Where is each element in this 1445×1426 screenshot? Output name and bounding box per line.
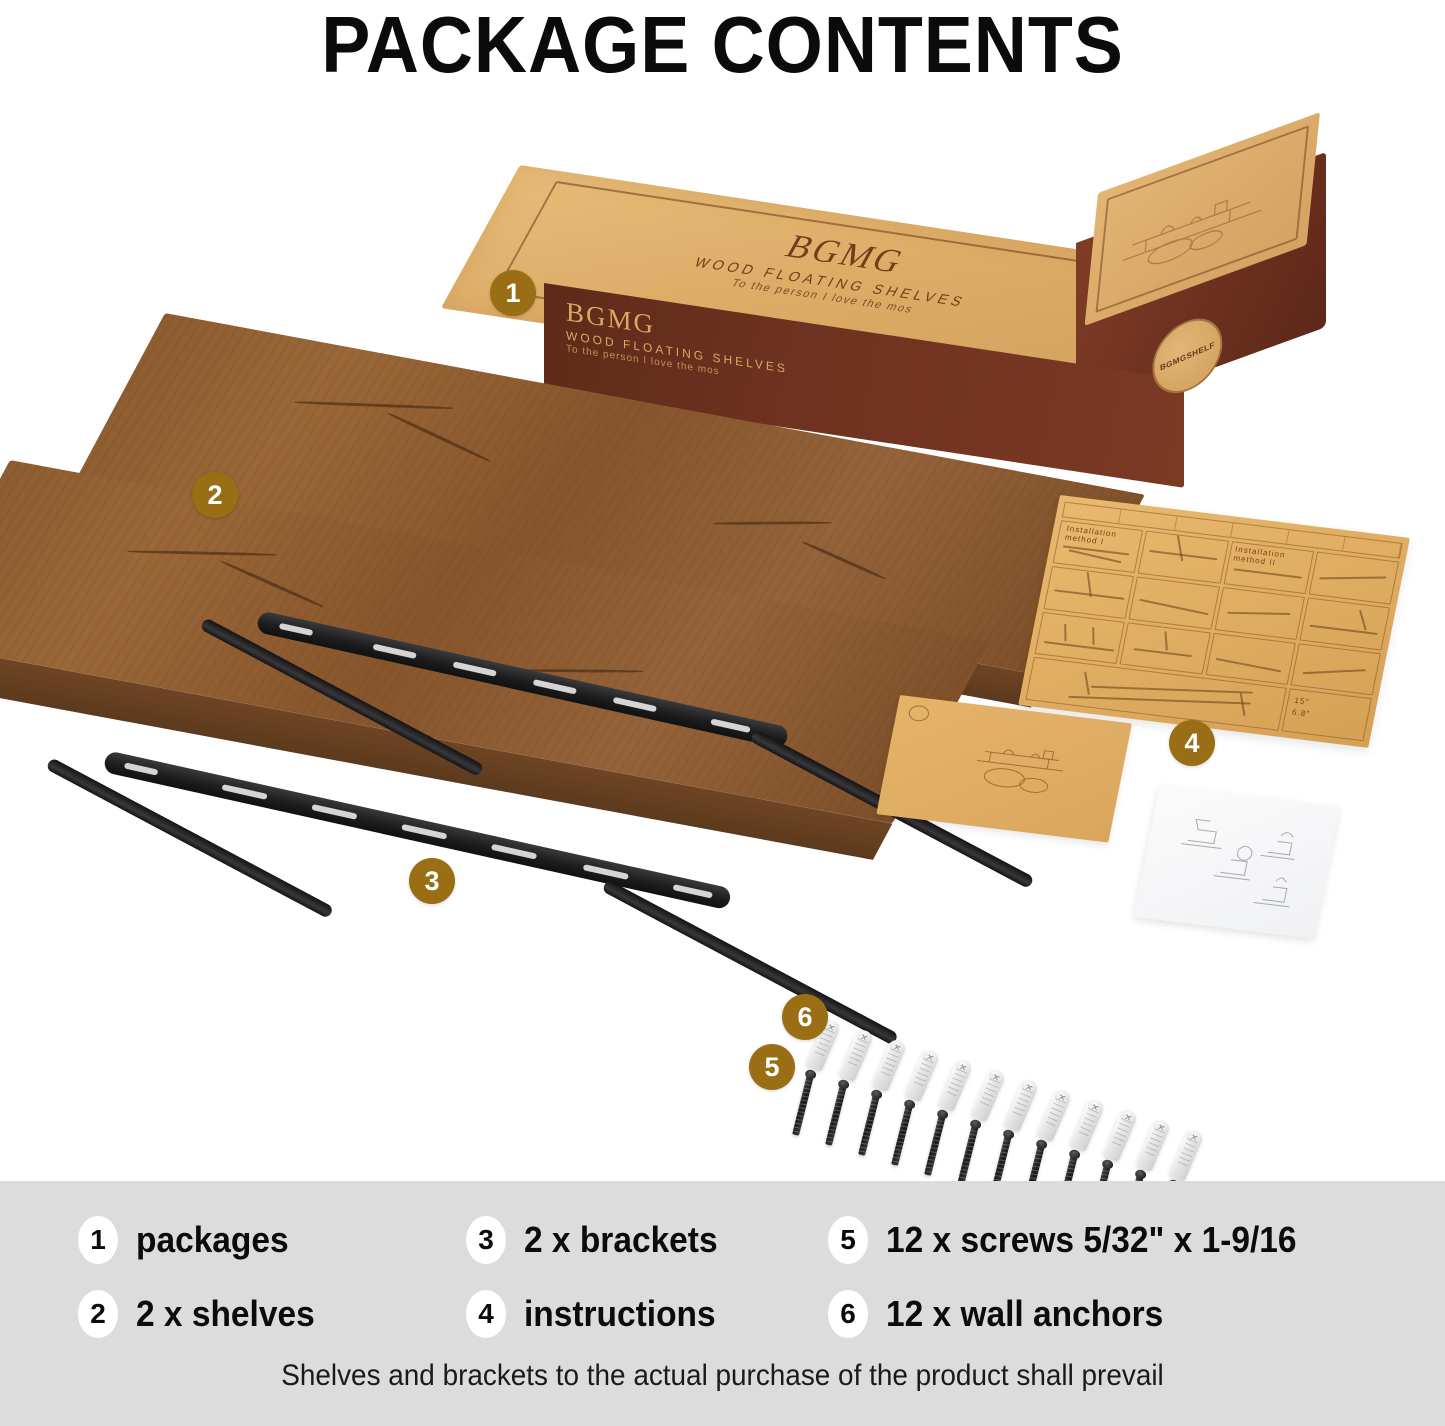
anchor-head: [1020, 1078, 1039, 1096]
wall-anchor: ✕: [1070, 1098, 1106, 1153]
anchor-cross-slot-icon: ✕: [1189, 1133, 1198, 1142]
legend-badge-5: 5: [828, 1216, 868, 1264]
screw: [924, 1110, 947, 1176]
legend-badge-4: 4: [466, 1290, 506, 1338]
instructions-cell: [1290, 643, 1381, 696]
product-photo-stage: BGMG WOOD FLOATING SHELVES To the person…: [0, 95, 1445, 1181]
instructions-cell: Installation method I: [1053, 520, 1144, 573]
bracket-slot: [673, 884, 713, 899]
legend-label-6: 12 x wall anchors: [886, 1293, 1163, 1335]
legend-label-4: instructions: [524, 1293, 716, 1335]
anchor-head: [1185, 1128, 1204, 1146]
screw-head: [1002, 1129, 1015, 1140]
legend-item-1: 1 packages: [78, 1216, 466, 1264]
legend-footer: 1 packages 3 2 x brackets 5 12 x screws …: [0, 1181, 1445, 1426]
legend-item-6: 6 12 x wall anchors: [828, 1290, 1368, 1338]
screw: [957, 1120, 980, 1186]
legend-label-3: 2 x brackets: [524, 1219, 718, 1261]
instructions-cell: [1214, 587, 1305, 640]
anchor-head: [1119, 1108, 1138, 1126]
anchor-head: [888, 1038, 907, 1056]
legend-item-4: 4 instructions: [466, 1290, 828, 1338]
legend-grid: 1 packages 3 2 x brackets 5 12 x screws …: [78, 1203, 1368, 1351]
legend-item-2: 2 2 x shelves: [78, 1290, 466, 1338]
callout-badge-2: 2: [192, 472, 238, 518]
spec-length: 15": [1294, 696, 1310, 707]
legend-label-2: 2 x shelves: [136, 1293, 315, 1335]
screw-head: [1134, 1169, 1147, 1180]
anchor-cross-slot-icon: ✕: [991, 1073, 1000, 1082]
wall-anchor: ✕: [905, 1048, 941, 1103]
legend-badge-1: 1: [78, 1216, 118, 1264]
screw-head: [969, 1119, 982, 1130]
instructions-cell: [1205, 632, 1296, 685]
legend-item-5: 5 12 x screws 5/32" x 1-9/16: [828, 1216, 1368, 1264]
anchor-head: [954, 1058, 973, 1076]
screw-head: [1035, 1139, 1048, 1150]
anchor-cross-slot-icon: ✕: [826, 1023, 835, 1032]
legend-row: 1 packages 3 2 x brackets 5 12 x screws …: [78, 1203, 1368, 1277]
instructions-cell: [1044, 566, 1135, 619]
instructions-cell: [1129, 576, 1220, 629]
wall-anchor: ✕: [1136, 1118, 1172, 1173]
anchor-cross-slot-icon: ✕: [1156, 1123, 1165, 1132]
wall-anchor: ✕: [1004, 1078, 1040, 1133]
bracket-slot: [491, 844, 537, 860]
legend-row: 2 2 x shelves 4 instructions 6 12 x wall…: [78, 1277, 1368, 1351]
callout-badge-1: 1: [490, 270, 536, 316]
callout-badge-4: 4: [1169, 720, 1215, 766]
bracket-slot: [124, 762, 158, 775]
wall-anchor: ✕: [1037, 1088, 1073, 1143]
anchor-head: [987, 1068, 1006, 1086]
anchor-cross-slot-icon: ✕: [1024, 1083, 1033, 1092]
legend-badge-6: 6: [828, 1290, 868, 1338]
anchor-head: [1086, 1098, 1105, 1116]
instructions-sheet: Installation method I Installation metho…: [1018, 495, 1410, 748]
package-contents-infographic: PACKAGE CONTENTS BGMG WOOD FLOATING SHEL…: [0, 0, 1445, 1426]
envelope-seal-icon: [907, 704, 930, 722]
legend-badge-3: 3: [466, 1216, 506, 1264]
screw-head: [1068, 1149, 1081, 1160]
wall-anchor: ✕: [938, 1058, 974, 1113]
anchor-cross-slot-icon: ✕: [859, 1033, 868, 1042]
seal-label: BGMGSHELF: [1160, 340, 1215, 372]
anchor-cross-slot-icon: ✕: [1057, 1093, 1066, 1102]
wall-anchor: ✕: [1169, 1128, 1205, 1183]
method-2-title: Installation method II: [1233, 545, 1313, 572]
callout-badge-3: 3: [409, 858, 455, 904]
legend-label-1: packages: [136, 1219, 289, 1261]
instructions-cell: [1299, 597, 1390, 650]
legend-badge-2: 2: [78, 1290, 118, 1338]
spec-depth: 6.8": [1291, 708, 1311, 719]
callout-badge-5: 5: [749, 1044, 795, 1090]
instructions-cell: [1120, 622, 1211, 675]
white-instruction-card: [1134, 785, 1340, 939]
shelf-bracket-front: [0, 95, 900, 1155]
screw-head: [903, 1099, 916, 1110]
bracket-slot: [311, 804, 357, 820]
anchor-cross-slot-icon: ✕: [925, 1053, 934, 1062]
callout-badge-6: 6: [782, 994, 828, 1040]
legend-label-5: 12 x screws 5/32" x 1-9/16: [886, 1219, 1297, 1261]
card-sketch-icons: [1146, 796, 1328, 928]
anchor-cross-slot-icon: ✕: [958, 1063, 967, 1072]
wall-anchor: ✕: [1103, 1108, 1139, 1163]
wall-anchor: ✕: [971, 1068, 1007, 1123]
anchor-head: [921, 1048, 940, 1066]
instructions-cell: [1138, 531, 1229, 584]
anchor-head: [1053, 1088, 1072, 1106]
envelope-shelf-sketch-icon: [961, 738, 1082, 806]
instructions-cell: Installation method II: [1223, 541, 1314, 594]
bracket-rod: [601, 879, 898, 1045]
anchor-head: [1152, 1118, 1171, 1136]
instructions-cell: [1034, 611, 1125, 664]
screw-head: [936, 1109, 949, 1120]
footer-caption: Shelves and brackets to the actual purch…: [51, 1359, 1395, 1393]
instructions-cell: [1308, 552, 1399, 605]
bracket-slot: [222, 784, 268, 800]
bracket-slot: [583, 864, 629, 880]
legend-item-3: 3 2 x brackets: [466, 1216, 828, 1264]
bracket-slot: [401, 824, 447, 840]
anchor-cross-slot-icon: ✕: [1090, 1103, 1099, 1112]
instructions-spec-cell: 15" 6.8": [1281, 688, 1372, 741]
anchor-cross-slot-icon: ✕: [892, 1043, 901, 1052]
instructions-panel-grid: Installation method I Installation metho…: [1025, 502, 1402, 742]
anchor-cross-slot-icon: ✕: [1123, 1113, 1132, 1122]
screw-head: [1101, 1159, 1114, 1170]
page-title: PACKAGE CONTENTS: [58, 2, 1387, 88]
